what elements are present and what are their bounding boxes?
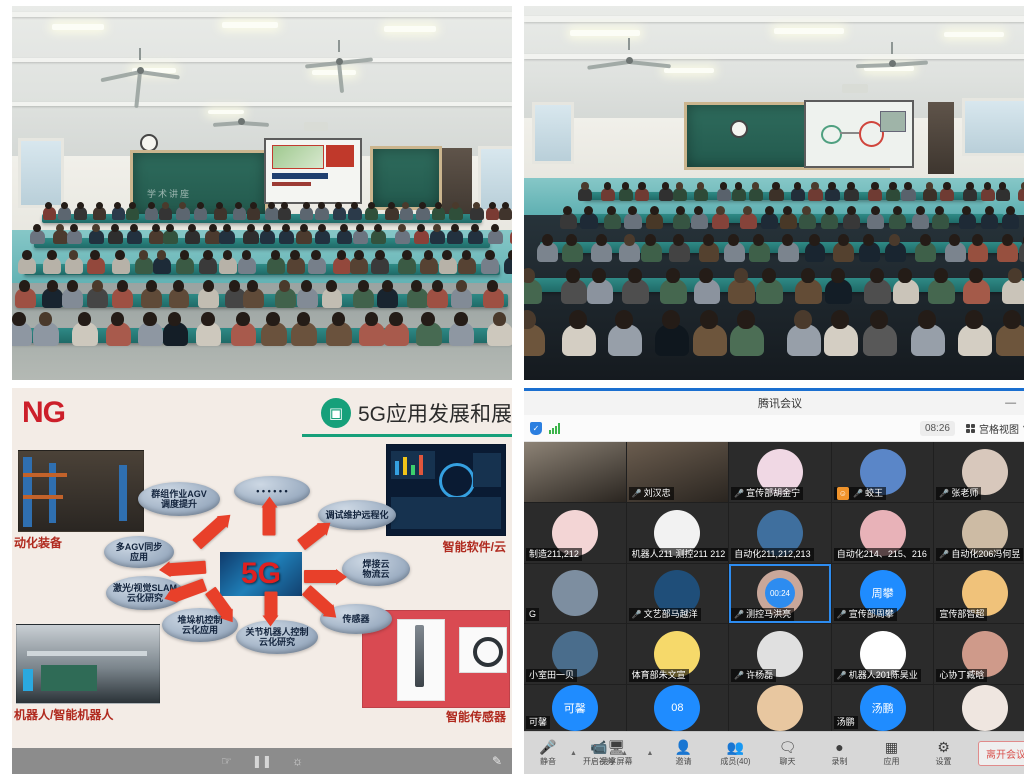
projector [842, 84, 868, 93]
audience-member [673, 213, 690, 229]
fan-blade [241, 121, 269, 127]
audience-member [867, 213, 884, 229]
audience-member-head [411, 280, 422, 292]
mic-muted-icon: 🎤 [853, 487, 863, 500]
audience-member-head [402, 250, 412, 260]
mic-muted-icon: 🎤 [734, 608, 744, 621]
audience-member-head [566, 234, 577, 246]
audience-member [214, 207, 227, 220]
audience-member-head [146, 280, 157, 292]
classroom-scene-1: 学术讲座 [12, 6, 512, 380]
audience-member [740, 213, 757, 229]
participant-tile[interactable]: 00:24🎤测控马洪亮 [729, 564, 831, 624]
ceiling-light [384, 26, 436, 32]
audience-member [159, 207, 172, 220]
audience-member [112, 207, 125, 220]
audience-member [149, 230, 164, 244]
audience-member-head [870, 310, 888, 329]
photo-collage: 学术讲座 [0, 0, 1024, 768]
audience-member-head [916, 206, 925, 215]
slide-header: ▣ 5G应用发展和展 [321, 398, 512, 428]
audience-member [74, 207, 87, 220]
participant-video [524, 442, 626, 502]
audience-member-head [662, 182, 670, 190]
participant-name-text: 机器人201陈昊业 [849, 669, 918, 682]
audience-member-head [566, 268, 580, 283]
audience-member-head [1003, 310, 1021, 329]
record-button[interactable]: ● 录制 [817, 740, 861, 767]
meeting-app: 腾讯会议 — ▫ ✓ 08:26 宫格视图 ▾ 🎤刘汉忠🎤宣传部胡金宁☺🎤蛟王🎤… [524, 388, 1024, 774]
node-label: • • • • • • [256, 486, 287, 496]
pause-icon[interactable]: ❚❚ [252, 754, 272, 768]
audience-member-head [456, 280, 467, 292]
audience-member [414, 230, 429, 244]
participant-name: 自动化214、215、216 [834, 548, 930, 561]
audience-member-head [1006, 206, 1015, 215]
participant-tile[interactable]: 宣传部智超 [934, 564, 1024, 624]
audience-member-head [904, 182, 912, 190]
invite-button[interactable]: 👤 邀请 [661, 740, 705, 767]
projection-screen [804, 100, 914, 168]
participant-tile[interactable]: G [524, 564, 626, 624]
participant-tile[interactable]: 自动化214、215、216 [832, 503, 934, 563]
slide-diagram-link [840, 132, 859, 134]
participant-tile[interactable]: 🎤许杨磊 [729, 624, 831, 684]
caption-left-top: 动化装备 [14, 534, 62, 551]
audience-member [449, 207, 462, 220]
ceiling-beam [12, 12, 512, 17]
audience-member-head [920, 234, 931, 246]
participant-name-text: 自动化211,212,213 [734, 548, 810, 561]
participant-name: 制造211,212 [526, 548, 582, 561]
audience-member-head [893, 206, 902, 215]
arrow [192, 516, 227, 550]
mic-muted-icon: 🎤 [734, 669, 744, 682]
audience-member-head [581, 182, 589, 190]
ceiling-light [52, 24, 104, 30]
node-label: 堆垛机控制云化应用 [177, 615, 222, 636]
audience-member-head [201, 312, 215, 326]
toolbar-right-group: 离开会议 [978, 741, 1024, 766]
ceiling-fan [304, 50, 374, 72]
grid-view-icon [966, 424, 975, 433]
audience-member [799, 213, 816, 229]
title-bar: 腾讯会议 — ▫ [524, 391, 1024, 415]
participant-grid: 🎤刘汉忠🎤宣传部胡金宁☺🎤蛟王🎤张老师制造211,212机器人211 测控211… [524, 442, 1024, 731]
audience-member-head [847, 206, 856, 215]
audience-member-head [762, 268, 776, 283]
audience-member-head [838, 234, 849, 246]
audience-member-head [162, 202, 169, 209]
arrow [302, 585, 334, 616]
app-title: 腾讯会议 [758, 395, 802, 411]
record-icon: ● [835, 740, 843, 754]
participant-name: 体育部朱文宣 [629, 669, 689, 682]
audience-member-head [139, 250, 149, 260]
signal-icon [549, 423, 560, 434]
participant-tile[interactable]: 体育部朱文宣 [627, 624, 729, 684]
audience-member [163, 230, 178, 244]
fan-hub [336, 58, 343, 65]
participant-name-text: 文艺部马越洋 [644, 608, 698, 621]
participant-name: 机器人211 测控211 212 [629, 548, 729, 561]
audience-member [712, 213, 729, 229]
audience-member-head [898, 268, 912, 283]
members-button[interactable]: 👥 成员(40) [713, 740, 757, 767]
audience-member-head [485, 250, 495, 260]
audience-member [400, 207, 413, 220]
avatar [757, 685, 803, 731]
participant-name: 小室田一贝 [526, 669, 577, 682]
participant-name-text: G [529, 608, 536, 621]
slide-underline [302, 434, 512, 437]
slide-diagram-left [821, 125, 842, 144]
audience-member-head [703, 234, 714, 246]
audience-member-head [326, 280, 337, 292]
audience-member-head [870, 268, 884, 283]
core-5g-node: 5G [220, 552, 302, 596]
participant-tile[interactable] [729, 685, 831, 731]
shield-icon[interactable]: ✓ [530, 422, 542, 435]
fan-blade [339, 57, 373, 65]
projection-screen [264, 138, 362, 204]
invite-label: 邀请 [675, 756, 691, 767]
audience-member-head [596, 234, 607, 246]
participant-tile[interactable]: 汤鹏汤鹏 [832, 685, 934, 731]
participant-tile[interactable] [524, 442, 626, 502]
laser-icon[interactable]: ☼ [292, 754, 303, 768]
rack [23, 457, 32, 527]
audience-member [265, 207, 278, 220]
audience-member-head [734, 268, 748, 283]
audience-member [912, 213, 929, 229]
audience-member-head [624, 234, 635, 246]
audio-chevron-icon[interactable]: ▲ [570, 750, 577, 757]
audience-member-head [92, 280, 103, 292]
audience-member [243, 230, 258, 244]
audience-member [646, 213, 663, 229]
audience-member-head [247, 224, 255, 232]
slide-canvas: NG ▣ 5G应用发展和展 动化装备 [12, 388, 512, 774]
audience-member-head [78, 312, 92, 326]
audience-member-head [628, 268, 642, 283]
participant-name: 自动化211,212,213 [731, 548, 813, 561]
audience-member [486, 207, 499, 220]
audience-member-head [1008, 268, 1022, 283]
ceiling-light [774, 28, 844, 34]
audience-member-head [1002, 234, 1013, 246]
rack-shelf [23, 473, 67, 477]
audience-member-head [157, 250, 167, 260]
participant-tile[interactable] [934, 685, 1024, 731]
chart-bar [403, 457, 407, 475]
participant-name: 宣传部智超 [936, 608, 987, 621]
audience-member-head [180, 250, 190, 260]
audience-member-head [354, 250, 364, 260]
slide-thumb [880, 111, 905, 132]
audience-member-head [622, 182, 630, 190]
fan-blade [856, 63, 892, 68]
settings-button[interactable]: ⚙ 设置 [921, 740, 965, 767]
apps-icon: ▦ [885, 740, 898, 754]
audience-member-head [999, 182, 1007, 190]
participant-tile[interactable]: 周攀🎤宣传部周攀 [832, 564, 934, 624]
audience-member-head [90, 250, 100, 260]
toolbar-center-group: 🖥 共享屏幕 ▲ 👤 邀请 👥 成员(40) 🗨 聊天 [595, 740, 966, 767]
audience-member-head [569, 310, 587, 329]
participant-name-text: 自动化206冯何昱 [951, 548, 1020, 561]
sensor-probe [415, 625, 424, 687]
participant-tile[interactable]: 🎤自动化206冯何昱 [934, 503, 1024, 563]
apps-button[interactable]: ▦ 应用 [869, 740, 913, 767]
audience-member-head [828, 182, 836, 190]
audience-member-head [592, 268, 606, 283]
audience-member-head [972, 234, 983, 246]
audience-member-head [889, 234, 900, 246]
participant-name-text: 蛟王 [865, 487, 883, 500]
audience-member-head [47, 250, 57, 260]
robot-exhibit-photo [16, 624, 160, 704]
fan-rod [139, 48, 141, 60]
audience-member [430, 230, 445, 244]
host-badge: ☺ [837, 487, 849, 500]
audience-member [219, 230, 234, 244]
chat-label: 聊天 [779, 756, 795, 767]
audience-member [468, 230, 483, 244]
audience-member-head [716, 206, 725, 215]
participant-name-text: 汤鹏 [837, 716, 855, 729]
blackboard-text: 学术讲座 [147, 187, 191, 200]
audience-member-head [735, 182, 743, 190]
mic-muted-icon: 🎤 [837, 669, 847, 682]
audience-member [300, 207, 313, 220]
audience-member-head [332, 312, 346, 326]
participant-tile[interactable]: 🎤宣传部胡金宁 [729, 442, 831, 502]
audience-member-head [984, 182, 992, 190]
tencent-meeting-window: 腾讯会议 — ▫ ✓ 08:26 宫格视图 ▾ 🎤刘汉忠🎤宣传部胡金宁☺🎤蛟王🎤… [524, 388, 1024, 774]
participant-tile[interactable]: ☺🎤蛟王 [832, 442, 934, 502]
arrow [168, 561, 207, 577]
audience-member [959, 213, 976, 229]
window [962, 98, 1024, 156]
audience-member [624, 213, 641, 229]
participant-tile[interactable]: 机器人211 测控211 212 [627, 503, 729, 563]
avatar [552, 570, 598, 616]
audience-member-head [303, 202, 310, 209]
audience-member-head [699, 268, 713, 283]
participant-name-text: 宣传部智超 [939, 608, 984, 621]
audience-member-head [242, 250, 252, 260]
apps-label: 应用 [883, 756, 899, 767]
audience-member-head [209, 224, 217, 232]
audience-member-head [67, 280, 78, 292]
audience-member-head [918, 310, 936, 329]
audience-member-head [720, 182, 728, 190]
audience-member [353, 230, 368, 244]
audience-member-head [229, 280, 240, 292]
mic-muted-icon: 🎤 [939, 548, 949, 561]
audio-button[interactable]: 🎤 静音 [526, 740, 570, 767]
audience-member-head [311, 250, 321, 260]
audience-member-head [337, 250, 347, 260]
audience-member-head [502, 202, 509, 209]
participant-tile[interactable]: 🎤机器人201陈昊业 [832, 624, 934, 684]
wall-clock [730, 120, 748, 138]
audience-member-head [300, 224, 308, 232]
audience-member-head [301, 280, 312, 292]
lecture-hall-wide-photo: 学术讲座 [12, 6, 512, 380]
audience-member [981, 213, 998, 229]
slide-logo: NG [22, 396, 65, 430]
audience-member-head [236, 312, 250, 326]
audience-member-head [247, 280, 258, 292]
audience-member-head [382, 280, 393, 292]
ceiling-fan [586, 48, 672, 72]
audience-member [185, 230, 200, 244]
participant-name: 🎤机器人201陈昊业 [834, 669, 921, 682]
audience-member-head [129, 202, 136, 209]
classroom-scene-2 [524, 6, 1024, 380]
participant-name-text: 可馨 [529, 716, 547, 729]
audience-member-head [19, 280, 30, 292]
minimize-button[interactable]: — [1005, 397, 1016, 409]
window-controls[interactable]: — ▫ [1005, 391, 1024, 415]
speaking-timer: 00:24 [765, 578, 795, 608]
audience-member [43, 207, 56, 220]
audience-member [89, 230, 104, 244]
participant-name: 心协丁臧晗 [936, 669, 987, 682]
gauge [439, 463, 475, 499]
lecture-hall-rear-photo [524, 6, 1024, 380]
chat-button[interactable]: 🗨 聊天 [765, 740, 809, 767]
audience-member [761, 213, 778, 229]
audience-member-head [966, 182, 974, 190]
participant-name-text: 小室田一贝 [529, 669, 574, 682]
audience-member-head [673, 234, 684, 246]
audience-member-head [375, 250, 385, 260]
audience-member-head [12, 312, 26, 326]
audience-member-head [615, 310, 633, 329]
audience-member [395, 230, 410, 244]
chart-bar [411, 465, 415, 475]
participant-tile[interactable]: 🎤张老师 [934, 442, 1024, 502]
share-label: 共享屏幕 [601, 756, 633, 767]
pointer-icon[interactable]: ☞ [221, 754, 232, 768]
audience-member-head [943, 182, 951, 190]
audience-member-head [250, 202, 257, 209]
participant-name: G [526, 608, 539, 621]
audience-member-head [39, 312, 53, 326]
audience-member-head [173, 280, 184, 292]
audience-member-head [965, 310, 983, 329]
members-label: 成员(40) [720, 756, 750, 767]
audience-member [821, 213, 838, 229]
audience-member-head [700, 310, 718, 329]
audience-member-head [424, 250, 434, 260]
robot-cell [41, 665, 97, 691]
audience-member [385, 207, 398, 220]
audience-member-head [279, 280, 290, 292]
audience-member [247, 207, 260, 220]
slide-presenter-toolbar[interactable]: ☞ ❚❚ ☼ ✎ [12, 748, 512, 774]
invite-icon: 👤 [675, 740, 692, 754]
share-chevron-icon[interactable]: ▲ [647, 750, 654, 757]
robot-frame [27, 651, 147, 656]
audience-member [432, 207, 445, 220]
share-screen-button[interactable]: 🖥 共享屏幕 [595, 740, 639, 767]
node-label: 调试维护远程化 [325, 510, 388, 520]
meeting-timer: 08:26 [920, 421, 955, 436]
audience-member-head [753, 234, 764, 246]
fan-rod [891, 42, 893, 54]
participant-name-text: 宣传部周攀 [849, 608, 894, 621]
chart-bar [419, 455, 423, 475]
audience-member-head [794, 310, 812, 329]
audience-member-head [794, 182, 802, 190]
audience-member-head [435, 202, 442, 209]
node-label: 多AGV同步应用 [116, 542, 163, 563]
audience-member-head [889, 182, 897, 190]
ceiling-fan [854, 52, 930, 74]
ceiling-fan [212, 112, 270, 130]
audience-member-head [168, 312, 182, 326]
node-label: 传感器 [342, 614, 369, 624]
participant-tile[interactable]: 08 [627, 685, 729, 731]
audience-member-head [737, 310, 755, 329]
fan-blade [629, 60, 671, 68]
audience-member-head [508, 250, 512, 260]
audience-member-head [871, 182, 879, 190]
participant-tile[interactable]: 小室田一贝 [524, 624, 626, 684]
participant-name-text: 自动化214、215、216 [837, 548, 927, 561]
meeting-subheader: ✓ 08:26 宫格视图 ▾ [524, 415, 1024, 442]
audience-member-head [47, 280, 58, 292]
participant-tile[interactable]: 🎤文艺部马越洋 [627, 564, 729, 624]
audience-member [333, 207, 346, 220]
participant-tile[interactable]: 心协丁臧晗 [934, 624, 1024, 684]
audience-member [499, 207, 512, 220]
audience-member [278, 207, 291, 220]
participant-name: 🎤宣传部周攀 [834, 608, 897, 621]
participant-tile[interactable]: 🎤刘汉忠 [627, 442, 729, 502]
audience-member-head [728, 234, 739, 246]
chart-bar [395, 461, 399, 475]
audience-member-head [666, 268, 680, 283]
participant-name-text: 测控马洪亮 [746, 608, 791, 621]
audience-member-head [969, 268, 983, 283]
audience-member-head [421, 312, 435, 326]
participant-name-text: 张老师 [951, 487, 978, 500]
audience-member-head [949, 234, 960, 246]
audience-member-head [271, 250, 281, 260]
audience-member-head [356, 224, 364, 232]
participant-name-text: 心协丁臧晗 [939, 669, 984, 682]
participant-tile[interactable]: 自动化211,212,213 [729, 503, 831, 563]
participant-tile[interactable]: 制造211,212 [524, 503, 626, 563]
audience-member-head [432, 280, 443, 292]
participant-tile[interactable]: 可馨可馨 [524, 685, 626, 731]
rack-shelf [23, 495, 63, 499]
audience-member-head [297, 312, 311, 326]
pen-icon[interactable]: ✎ [492, 754, 502, 768]
participant-name-text: 宣传部胡金宁 [746, 487, 800, 500]
document-search-icon: ▣ [321, 398, 351, 428]
participant-name: 汤鹏 [834, 716, 858, 729]
leave-meeting-button[interactable]: 离开会议 [978, 741, 1024, 766]
view-mode-label: 宫格视图 [979, 421, 1019, 436]
view-mode-button[interactable]: 宫格视图 ▾ [962, 419, 1024, 438]
audience-member [296, 230, 311, 244]
